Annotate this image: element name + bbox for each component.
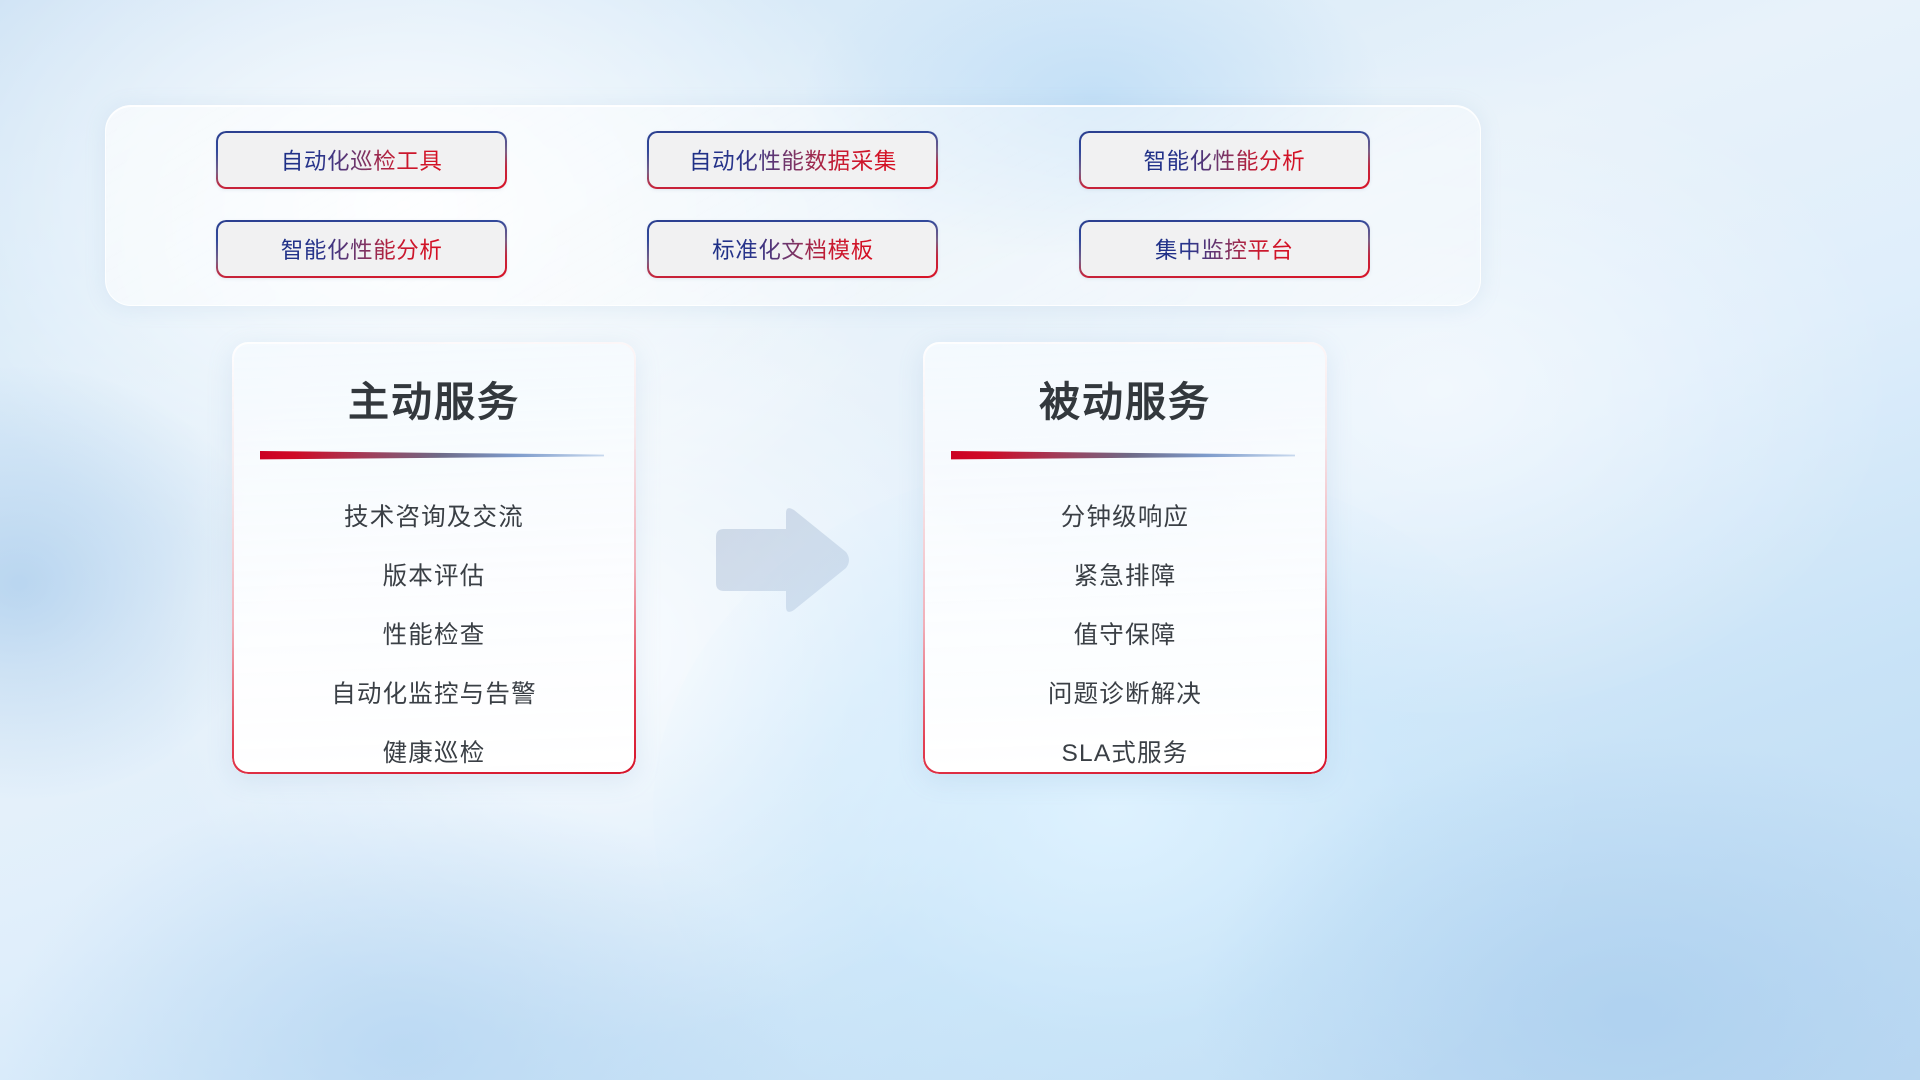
service-item-list: 分钟级响应 紧急排障 值守保障 问题诊断解决 SLA式服务 xyxy=(923,488,1327,774)
service-card-title: 主动服务 xyxy=(232,368,636,428)
capability-pill-label: 智能化性能分析 xyxy=(1143,144,1305,176)
capability-pill-label: 标准化文档模板 xyxy=(712,233,874,265)
service-card-title: 被动服务 xyxy=(923,368,1327,428)
capability-pill-panel: 自动化巡检工具 自动化性能数据采集 智能化性能分析 智能化性能分析 标准化文档模… xyxy=(105,105,1481,306)
service-item: 问题诊断解决 xyxy=(1048,665,1202,724)
capability-pill[interactable]: 自动化巡检工具 xyxy=(216,131,507,189)
capability-pill-label: 智能化性能分析 xyxy=(281,233,443,265)
capability-pill-label: 自动化巡检工具 xyxy=(281,144,443,176)
right-arrow-icon xyxy=(712,505,852,615)
capability-pill[interactable]: 智能化性能分析 xyxy=(216,220,507,278)
service-item: 版本评估 xyxy=(383,547,486,606)
service-item-list: 技术咨询及交流 版本评估 性能检查 自动化监控与告警 健康巡检 xyxy=(232,488,636,774)
capability-pill-label: 自动化性能数据采集 xyxy=(689,144,897,176)
service-card-proactive[interactable]: 主动服务 技术咨询及交流 版本评估 性能检查 xyxy=(232,342,636,774)
card-title-divider xyxy=(260,450,604,462)
capability-pill[interactable]: 集中监控平台 xyxy=(1079,220,1370,278)
service-item: 性能检查 xyxy=(383,606,486,665)
service-item: 紧急排障 xyxy=(1074,547,1177,606)
service-item: 自动化监控与告警 xyxy=(331,665,537,724)
diagram-stage: 自动化巡检工具 自动化性能数据采集 智能化性能分析 智能化性能分析 标准化文档模… xyxy=(0,0,1920,1080)
service-item: 健康巡检 xyxy=(383,724,486,774)
capability-pill[interactable]: 自动化性能数据采集 xyxy=(647,131,938,189)
service-item: SLA式服务 xyxy=(1061,724,1188,774)
capability-pill-grid: 自动化巡检工具 自动化性能数据采集 智能化性能分析 智能化性能分析 标准化文档模… xyxy=(106,106,1480,305)
service-card-reactive[interactable]: 被动服务 分钟级响应 紧急排障 值守保障 xyxy=(923,342,1327,774)
card-title-divider xyxy=(951,450,1295,462)
capability-pill[interactable]: 标准化文档模板 xyxy=(647,220,938,278)
capability-pill-label: 集中监控平台 xyxy=(1155,233,1294,265)
service-item: 分钟级响应 xyxy=(1061,488,1190,547)
service-item: 技术咨询及交流 xyxy=(344,488,524,547)
service-item: 值守保障 xyxy=(1074,606,1177,665)
capability-pill[interactable]: 智能化性能分析 xyxy=(1079,131,1370,189)
